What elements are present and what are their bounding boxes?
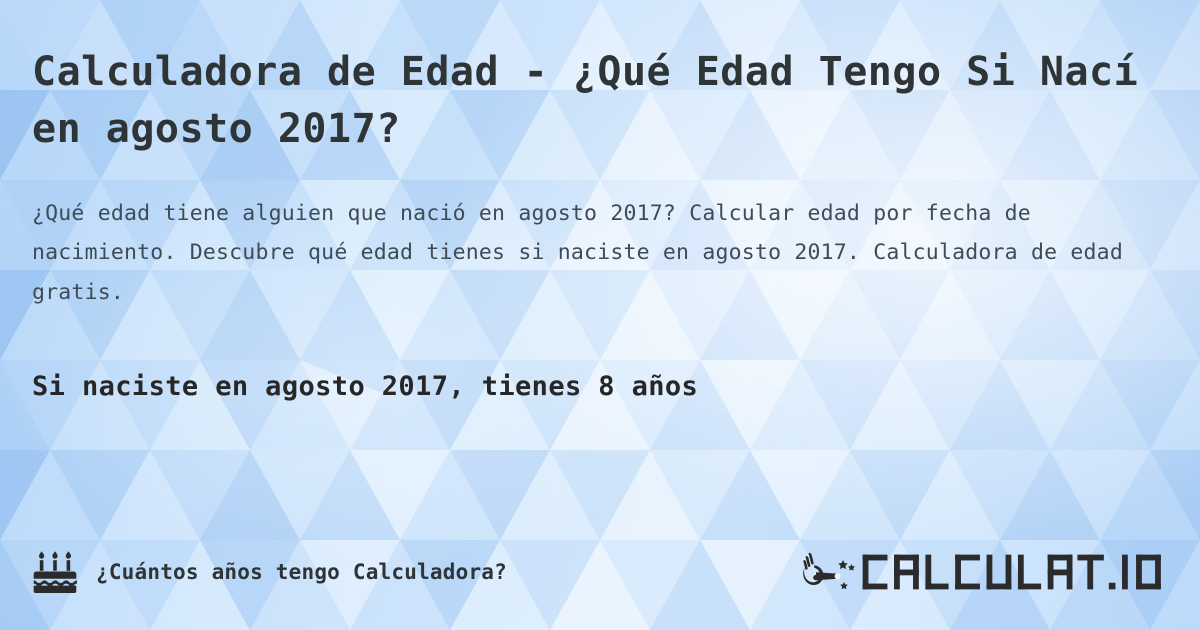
brand-logo [803,551,1168,593]
birthday-cake-icon [32,550,78,594]
og-image-card: Calculadora de Edad - ¿Qué Edad Tengo Si… [0,0,1200,630]
page-title: Calculadora de Edad - ¿Qué Edad Tengo Si… [32,0,1168,158]
page-description: ¿Qué edad tiene alguien que nació en ago… [32,158,1164,313]
footer-left-group: ¿Cuántos años tengo Calculadora? [32,550,507,594]
footer-bar: ¿Cuántos años tengo Calculadora? [32,544,1168,600]
magic-wand-hand-icon [803,551,855,593]
brand-wordmark [861,553,1168,591]
content-area: Calculadora de Edad - ¿Qué Edad Tengo Si… [0,0,1200,630]
answer-statement: Si naciste en agosto 2017, tienes 8 años [32,313,1168,404]
footer-label: ¿Cuántos años tengo Calculadora? [96,560,507,584]
